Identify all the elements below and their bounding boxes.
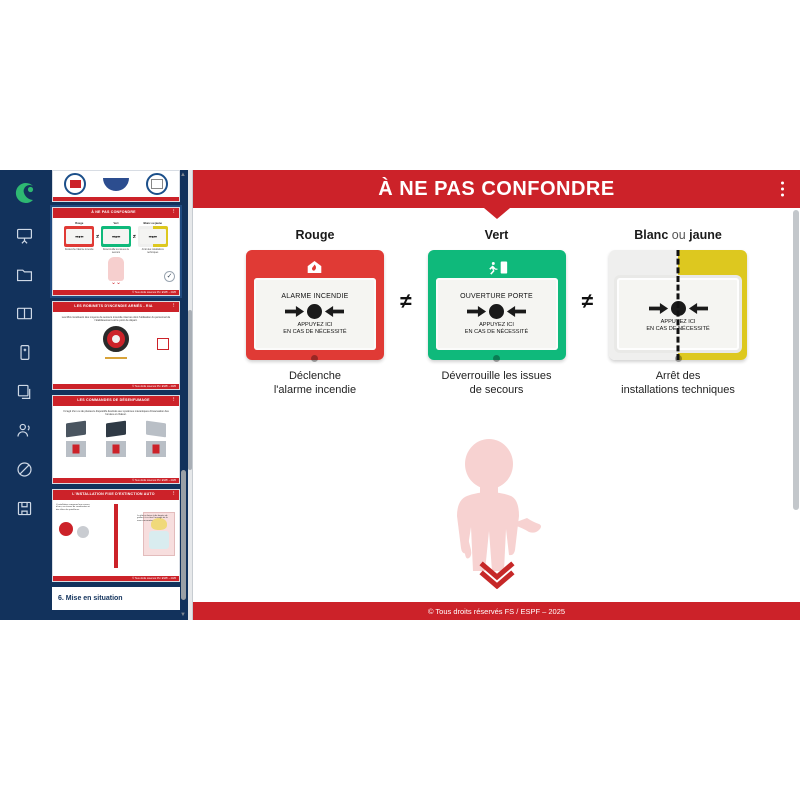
sprinkler-pipe-icon [114,504,118,568]
mini-label: Vert [101,222,131,225]
thumbnail-menu-icon[interactable]: ⋮ [172,304,176,307]
thumbnail-menu-icon[interactable]: ⋮ [172,492,176,495]
thumbnail-body-text: Il s'agit d'un ou de plusieurs dispositi… [56,410,176,416]
fire-alarm-box-icon [157,338,169,350]
not-equal-icon: ≠ [400,228,412,314]
exit-running-person-icon [436,259,558,275]
thumbnail-title-text: L'INSTALLATION FIXE D'EXTINCTION AUTO [72,492,154,496]
thumbnail-scrollbar[interactable] [181,470,186,600]
list-item[interactable]: LES ROBINETS D'INCENDIE ARMÉS - RIA ⋮ Le… [52,301,180,390]
share-icon[interactable] [9,454,39,484]
led-indicator [311,355,318,362]
thumbnail-note-left: L'installation comprend une source d'eau… [56,504,92,512]
window-title: OUVERTURE PORTE [460,293,533,300]
save-icon[interactable] [9,493,39,523]
thumbnail-footer: © Tous droits réservés FS / ESPF – 2025 [53,576,179,581]
chevron-double-down-icon[interactable] [477,559,517,594]
thumbnail-title-text: LES ROBINETS D'INCENDIE ARMÉS - RIA [74,304,152,308]
current-slide: À NE PAS CONFONDRE [193,170,800,620]
fire-house-icon [254,259,376,275]
page-title: À NE PAS CONFONDRE [378,178,614,201]
thumbnail-list: À NE PAS CONFONDRE ⋮ Rouge ➡●⬅ Déclenche… [52,170,184,610]
mini-caption: Déverrouille les issues de secours [101,249,131,255]
list-item[interactable]: L'INSTALLATION FIXE D'EXTINCTION AUTO ⋮ … [52,489,180,582]
slide-stage: À NE PAS CONFONDRE [192,170,800,620]
presentation-app-window: ▲ [0,170,800,620]
thumbnail-footer: © Tous droits réservés FS / ESPF – 2025 [53,384,179,389]
water-tank-icon [59,522,73,536]
list-item[interactable]: À NE PAS CONFONDRE ⋮ Rouge ➡●⬅ Déclenche… [52,207,180,296]
comparison-columns: Rouge ALARME INCENDIE [193,228,800,398]
column-caption: Déverrouille les issues de secours [422,370,572,398]
column-red: Rouge ALARME INCENDIE [240,228,390,398]
status-badge[interactable]: ✓ [164,271,175,282]
left-icon-rail [0,170,48,620]
people-icon[interactable] [9,415,39,445]
not-equal-icon: ≠ [582,228,594,314]
list-item[interactable] [52,170,180,202]
thumbnail-body: L'installation comprend une source d'eau… [53,500,179,576]
header-notch [484,208,510,219]
call-point-window: OUVERTURE PORTE APPUYEZ ICI EN CAS DE NÉ… [436,278,558,350]
color-label: Rouge [240,228,390,242]
thumbnail-body: Il s'agit d'un ou de plusieurs dispositi… [53,406,179,478]
arrows-to-center-icon [285,304,344,319]
folder-icon[interactable] [9,259,39,289]
book-icon[interactable] [9,298,39,328]
smoke-vent-icon [146,421,166,438]
thumbnail-footer: © Tous droits réservés FS / ESPF – 2025 [53,478,179,483]
chevron-down-icon: ⌄⌄ [56,281,176,286]
column-green: Vert OUVERTURE PORTE [422,228,572,398]
window-instruction: APPUYEZ ICI EN CAS DE NÉCESSITÉ [283,322,346,336]
door-release-call-point-green[interactable]: OUVERTURE PORTE APPUYEZ ICI EN CAS DE NÉ… [428,250,566,360]
thumbnail-body: Les RIA constituent des moyens de secour… [53,312,179,384]
thumbnail-title: L'INSTALLATION FIXE D'EXTINCTION AUTO ⋮ [53,490,179,500]
technical-shutdown-call-point[interactable]: APPUYEZ ICI EN CAS DE NÉCESSITÉ [609,250,747,360]
split-divider-icon [677,250,680,360]
fire-hose-reel-icon [103,326,129,352]
child-silhouette [108,257,124,281]
presentation-icon[interactable] [9,220,39,250]
slide-menu-icon[interactable] [781,182,784,197]
valve-icon [77,526,89,538]
window-title: ALARME INCENDIE [281,293,348,300]
column-caption: Déclenche l'alarme incendie [240,370,390,398]
list-item[interactable]: LES COMMANDES DE DÉSENFUMAGE ⋮ Il s'agit… [52,395,180,484]
window-instruction: APPUYEZ ICI EN CAS DE NÉCESSITÉ [465,322,528,336]
thumbnail-footer [53,197,179,202]
thumbnail-menu-icon[interactable]: ⋮ [172,210,176,213]
section-label[interactable]: 6. Mise en situation [52,587,180,610]
thumbnail-title: LES ROBINETS D'INCENDIE ARMÉS - RIA ⋮ [53,302,179,312]
scroll-down-arrow[interactable]: ▼ [180,612,186,618]
thumbnail-title: LES COMMANDES DE DÉSENFUMAGE ⋮ [53,396,179,406]
copy-icon[interactable] [9,376,39,406]
column-white-yellow: Blanc ou jaune A [603,228,753,398]
device-icon[interactable] [9,337,39,367]
sprinkler-scene-image: La tête se brise à dix degrés de gaillon… [143,512,175,556]
smoke-vent-icon [106,421,126,438]
slide-header: À NE PAS CONFONDRE [193,170,800,208]
smoke-vent-icon [66,421,86,438]
thumbnail-body-text: Les RIA constituent des moyens de secour… [56,316,176,322]
thumbnail-footer: © Tous droits réservés FS / ESPF – 2025 [53,290,179,295]
slide-thumbnail-panel[interactable]: ▲ [48,170,188,620]
column-caption: Arrêt des installations techniques [603,370,753,398]
thumbnail-body: Rouge ➡●⬅ Déclenche l'alarme incendie ≠ … [53,218,179,290]
mini-label: Rouge [64,222,94,225]
led-indicator [493,355,500,362]
thumbnail-menu-icon[interactable]: ⋮ [172,398,176,401]
thumbnail-title: À NE PAS CONFONDRE ⋮ [53,208,179,218]
fire-alarm-call-point-red[interactable]: ALARME INCENDIE APPUYEZ ICI EN CAS DE NÉ… [246,250,384,360]
thumbnail-note-right: La tête se brise à dix degrés de gaillon… [137,515,171,523]
arrows-to-center-icon [467,304,526,319]
mini-caption: Arrêt des installations techniques [138,249,168,255]
thumbnail-title-text: LES COMMANDES DE DÉSENFUMAGE [77,398,150,402]
color-label: Blanc ou jaune [603,228,753,242]
app-logo-icon[interactable] [11,180,37,206]
thumbnail-title-text: À NE PAS CONFONDRE [91,210,135,214]
color-label: Vert [422,228,572,242]
mini-caption: Déclenche l'alarme incendie [64,249,94,252]
mini-label: Blanc ou jaune [138,222,168,225]
call-point-window: ALARME INCENDIE APPUYEZ ICI EN CAS DE NÉ… [254,278,376,350]
